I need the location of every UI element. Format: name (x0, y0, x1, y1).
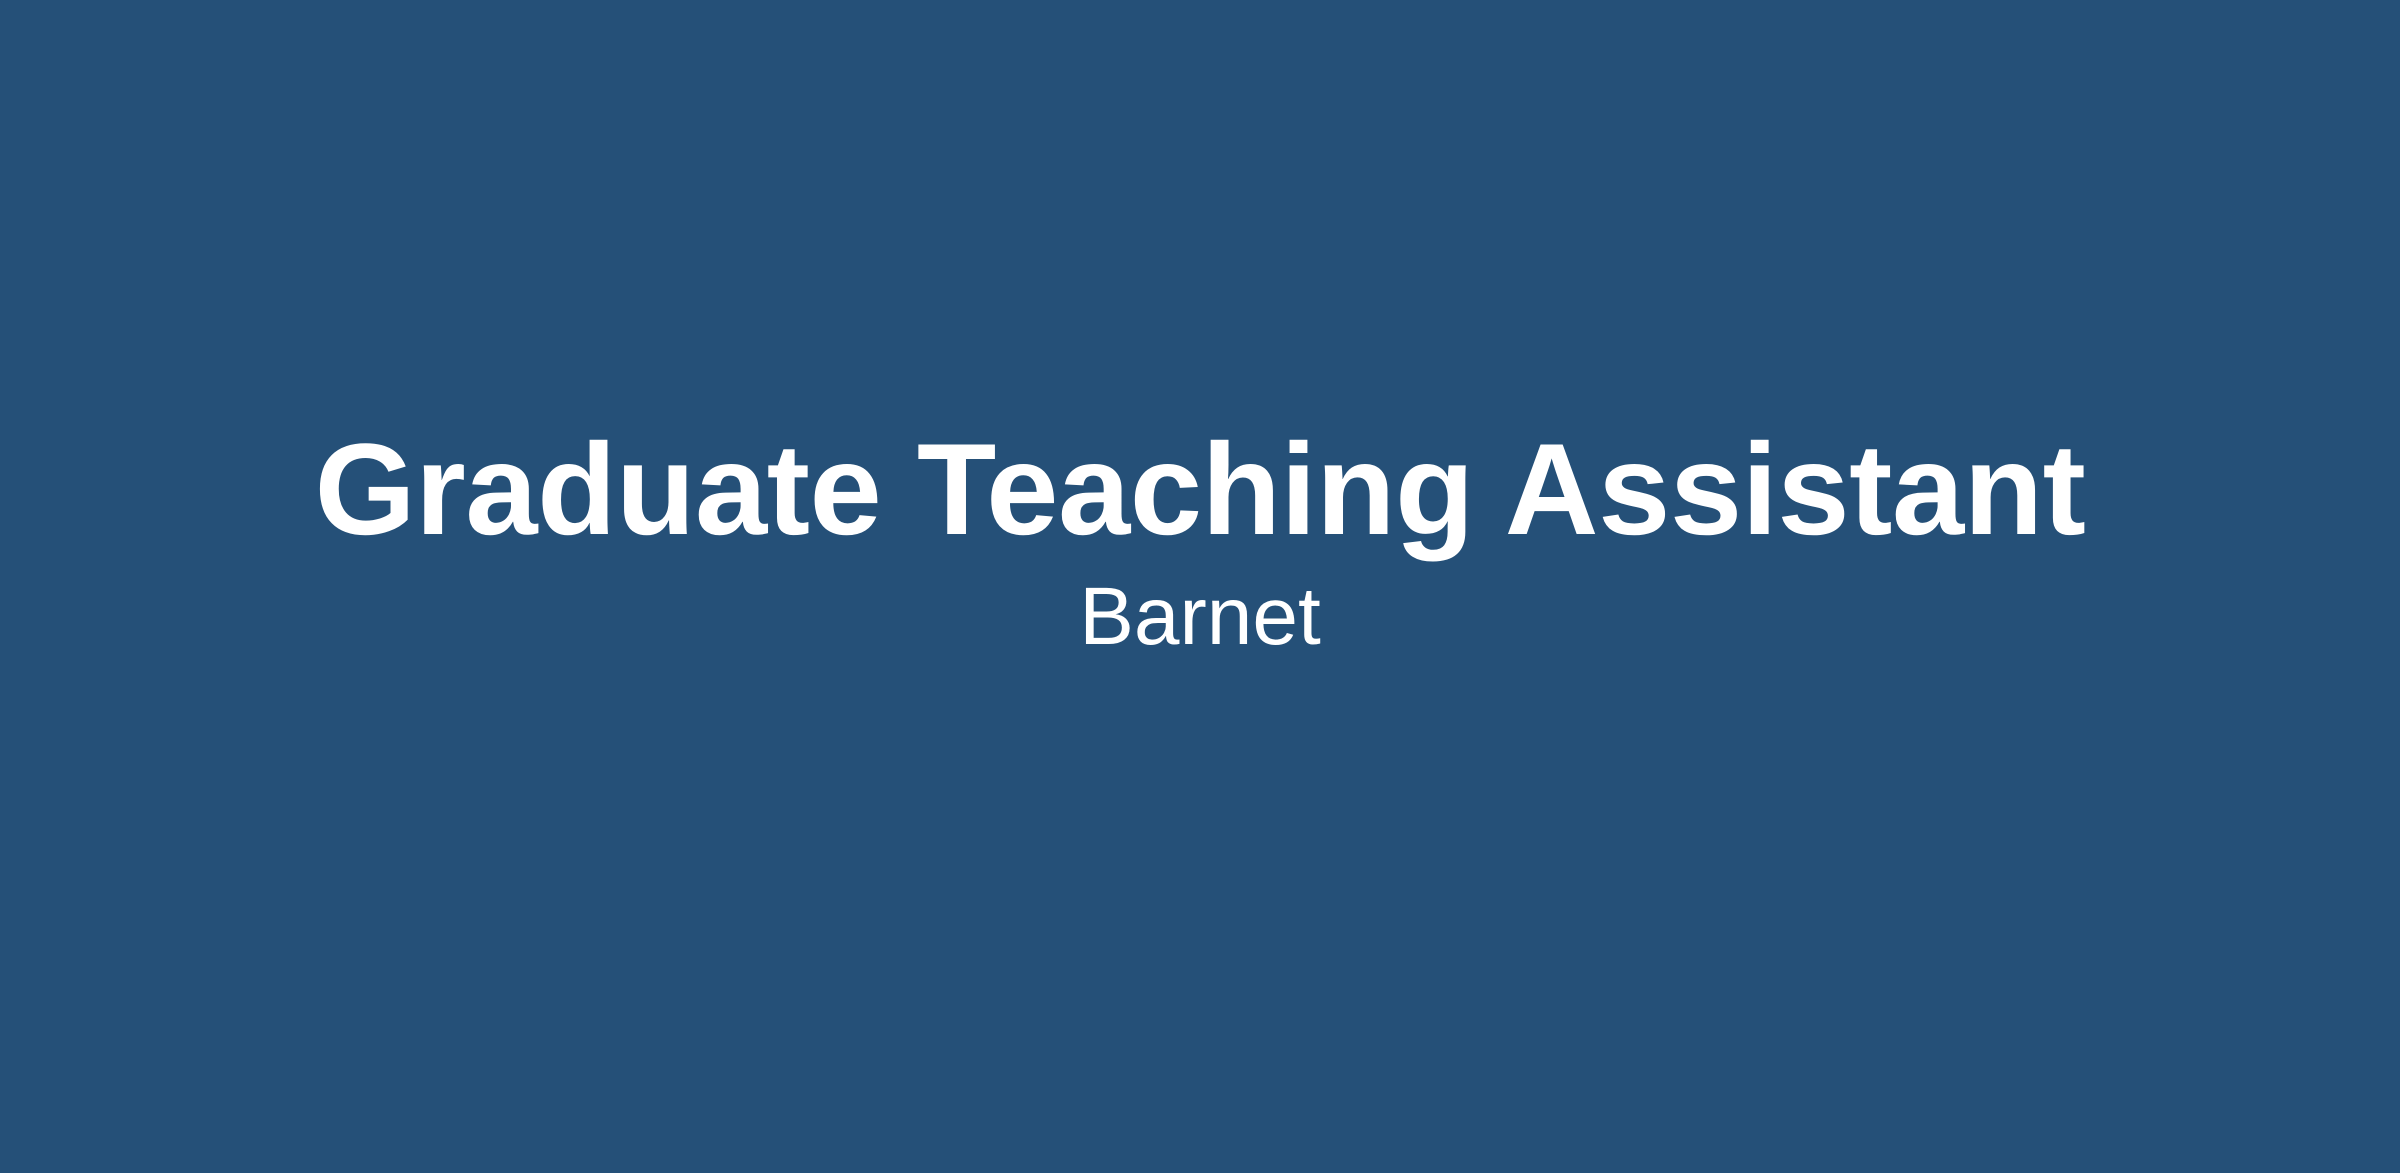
job-location: Barnet (1079, 572, 1321, 662)
banner-content: Graduate Teaching Assistant Barnet (0, 421, 2400, 663)
job-header-banner: Graduate Teaching Assistant Barnet (0, 0, 2400, 1173)
job-title: Graduate Teaching Assistant (315, 421, 2086, 559)
